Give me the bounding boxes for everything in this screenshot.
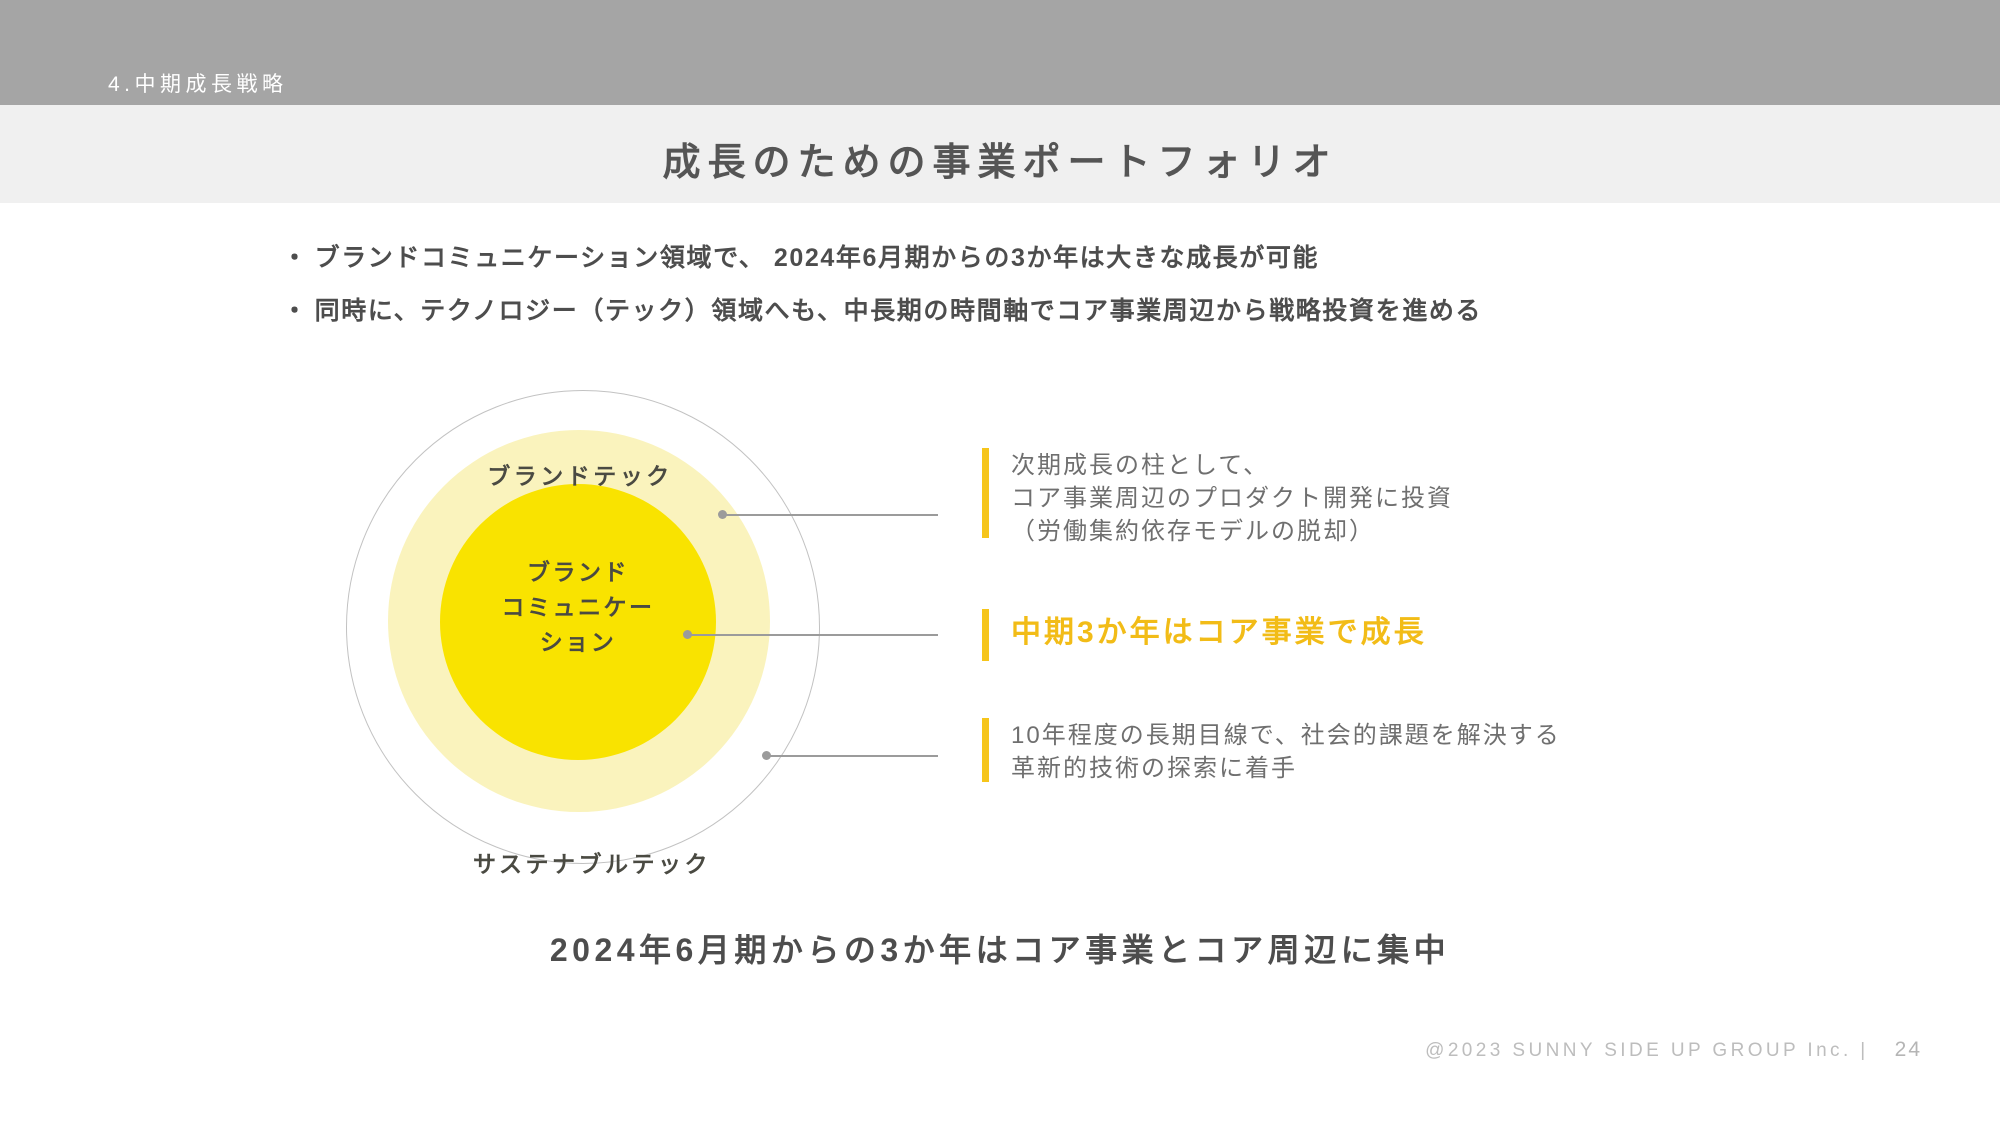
diagram-label-brandtech: ブランドテック bbox=[330, 457, 830, 491]
callout-text: 次期成長の柱として、 コア事業周辺のプロダクト開発に投資 （労働集約依存モデルの… bbox=[1011, 448, 1453, 548]
footer-page-number: 24 bbox=[1895, 1038, 1922, 1062]
bullet-marker-icon: ・ bbox=[282, 291, 309, 327]
footer: @2023 SUNNY SIDE UP GROUP Inc. | 24 bbox=[1425, 1038, 1922, 1062]
bullet-text: 同時に、テクノロジー（テック）領域へも、中長期の時間軸でコア事業周辺から戦略投資… bbox=[315, 291, 1482, 327]
callout-core-growth: 中期3か年はコア事業で成長 bbox=[982, 609, 1427, 661]
connector-line-core bbox=[683, 627, 938, 641]
connector-stroke bbox=[725, 514, 938, 516]
callout-accent-bar bbox=[982, 448, 989, 538]
page-title: 成長のための事業ポートフォリオ bbox=[0, 131, 2000, 186]
connector-stroke bbox=[690, 634, 938, 636]
callout-text: 中期3か年はコア事業で成長 bbox=[1011, 609, 1427, 661]
diagram-label-brand-communication: ブランド コミュニケー ション bbox=[440, 555, 716, 661]
bullet-marker-icon: ・ bbox=[282, 238, 309, 274]
callout-sustainabletech: 10年程度の長期目線で、社会的課題を解決する 革新的技術の探索に着手 bbox=[982, 718, 1561, 785]
callout-brandtech: 次期成長の柱として、 コア事業周辺のプロダクト開発に投資 （労働集約依存モデルの… bbox=[982, 448, 1453, 548]
connector-line-sustainabletech bbox=[762, 748, 938, 762]
callout-accent-bar bbox=[982, 609, 989, 661]
diagram-label-sustainabletech: サステナブルテック bbox=[330, 845, 854, 879]
connector-line-brandtech bbox=[718, 507, 938, 521]
bullet-item: ・ ブランドコミュニケーション領域で、 2024年6月期からの3か年は大きな成長… bbox=[282, 238, 1782, 274]
section-label: 4.中期成長戦略 bbox=[108, 68, 288, 98]
callout-text: 10年程度の長期目線で、社会的課題を解決する 革新的技術の探索に着手 bbox=[1011, 718, 1561, 785]
summary-statement: 2024年6月期からの3か年はコア事業とコア周辺に集中 bbox=[0, 925, 2000, 971]
footer-copyright: @2023 SUNNY SIDE UP GROUP Inc. | bbox=[1425, 1040, 1868, 1062]
bullet-list: ・ ブランドコミュニケーション領域で、 2024年6月期からの3か年は大きな成長… bbox=[282, 238, 1782, 344]
callout-accent-bar bbox=[982, 718, 989, 782]
bullet-text: ブランドコミュニケーション領域で、 2024年6月期からの3か年は大きな成長が可… bbox=[315, 238, 1319, 274]
header-bar bbox=[0, 0, 2000, 105]
connector-stroke bbox=[769, 755, 938, 757]
bullet-item: ・ 同時に、テクノロジー（テック）領域へも、中長期の時間軸でコア事業周辺から戦略… bbox=[282, 291, 1782, 327]
